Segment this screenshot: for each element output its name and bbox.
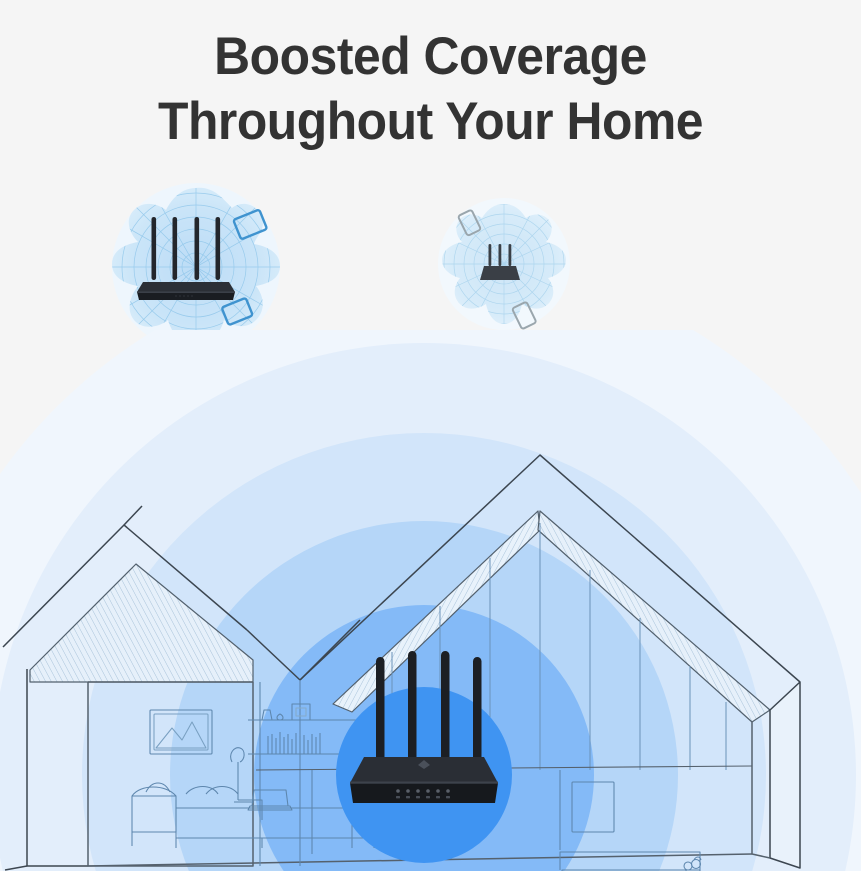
router-front-panel	[350, 783, 498, 803]
house-scene	[0, 330, 861, 871]
page-root: Boosted Coverage Throughout Your Home	[0, 0, 861, 871]
router-edge-highlight	[350, 782, 498, 784]
wall-right-thickness	[770, 682, 800, 868]
page-title-line-1: Boosted Coverage	[26, 24, 835, 89]
page-title-line-2: Throughout Your Home	[26, 89, 835, 154]
page-title: Boosted Coverage Throughout Your Home	[26, 24, 835, 154]
